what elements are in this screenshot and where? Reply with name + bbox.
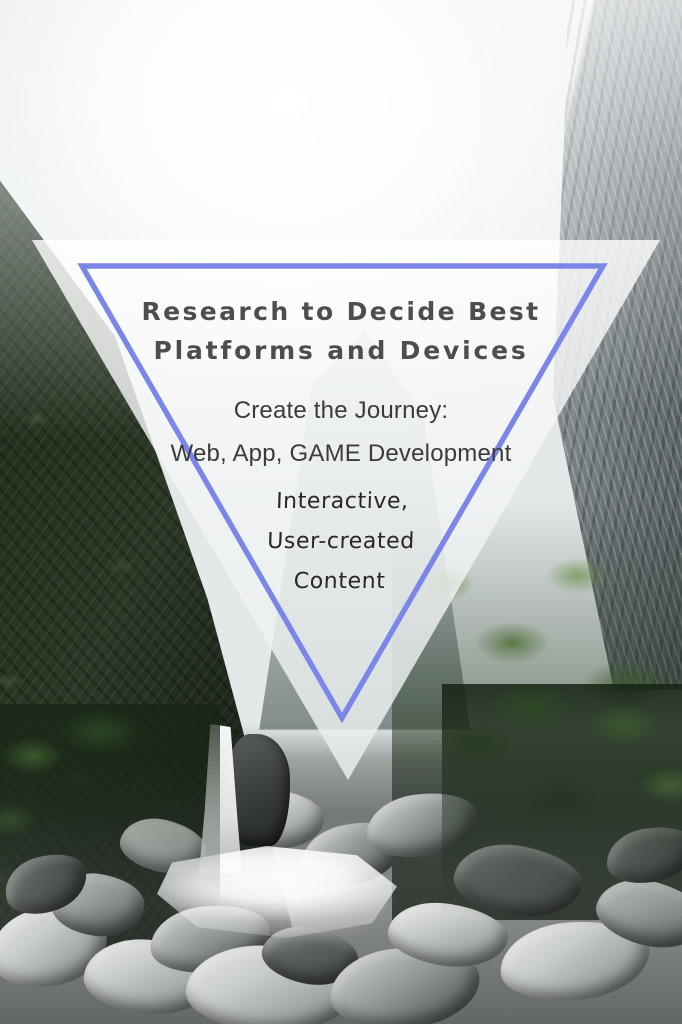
background-photo bbox=[0, 0, 682, 1024]
poster-canvas: Research to Decide Best Platforms and De… bbox=[0, 0, 682, 1024]
photo-grain bbox=[0, 0, 682, 1024]
